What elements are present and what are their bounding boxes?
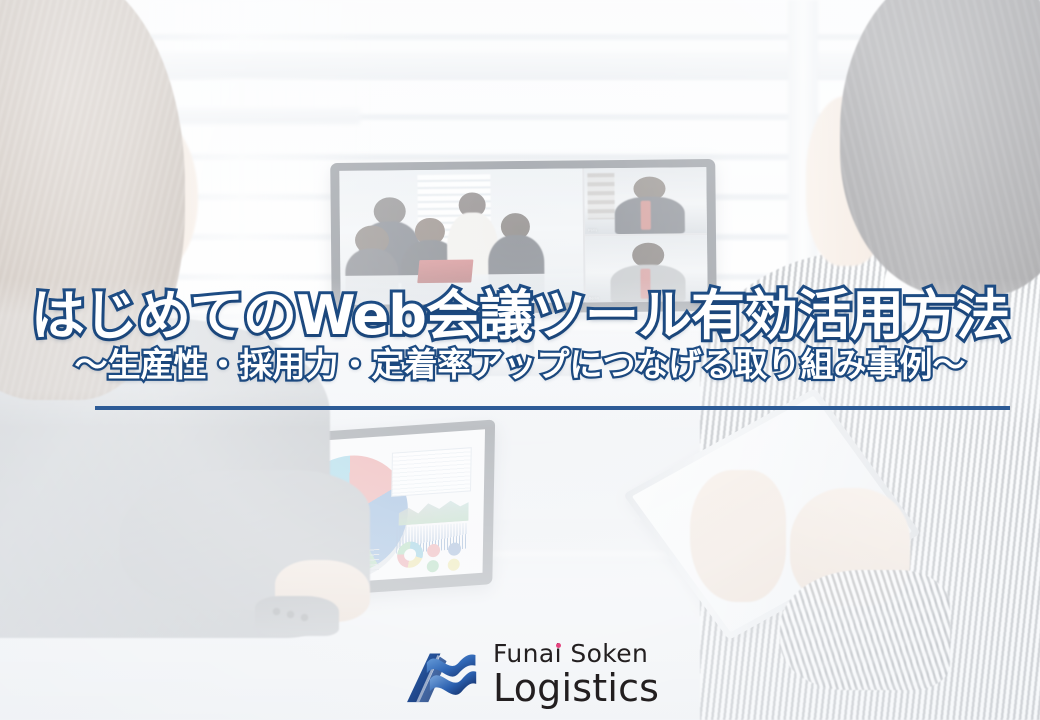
legend-dot	[448, 558, 460, 571]
title-block: はじめてのWeb会議ツール有効活用方法 〜生産性・採用力・定着率アップにつなげる…	[0, 288, 1040, 383]
donut-chart-thumbnail	[396, 541, 422, 569]
logo-accent-dot-icon	[556, 643, 561, 648]
legend-dot	[427, 559, 439, 572]
title-divider-line	[95, 406, 1010, 410]
man-hair	[840, 0, 1040, 296]
woman-sleeve-cuff	[255, 596, 339, 636]
legend-dot	[448, 543, 461, 557]
man-hand-holding-tablet	[690, 470, 786, 602]
data-table-thumbnail	[391, 447, 472, 497]
logo-wordmark: Funai Soken Logistics	[493, 641, 659, 707]
logo-line-logistics: Logistics	[493, 669, 659, 707]
legend-dot	[427, 544, 440, 558]
man-sleeve-cuff	[780, 570, 950, 690]
area-chart-thumbnail	[399, 495, 469, 526]
video-tile-label: Paris	[588, 228, 597, 232]
video-tile-paris: Paris	[585, 167, 707, 234]
funai-soken-wave-mark-icon	[404, 644, 480, 704]
page-subtitle: 〜生産性・採用力・定着率アップにつなげる取り組み事例〜	[0, 348, 1040, 383]
funai-soken-logistics-logo: Funai Soken Logistics	[404, 641, 659, 707]
logo-line-funai-soken: Funai Soken	[493, 641, 659, 666]
page-title: はじめてのWeb会議ツール有効活用方法	[0, 288, 1040, 344]
seminar-banner: New York Paris Berlin	[0, 0, 1040, 720]
